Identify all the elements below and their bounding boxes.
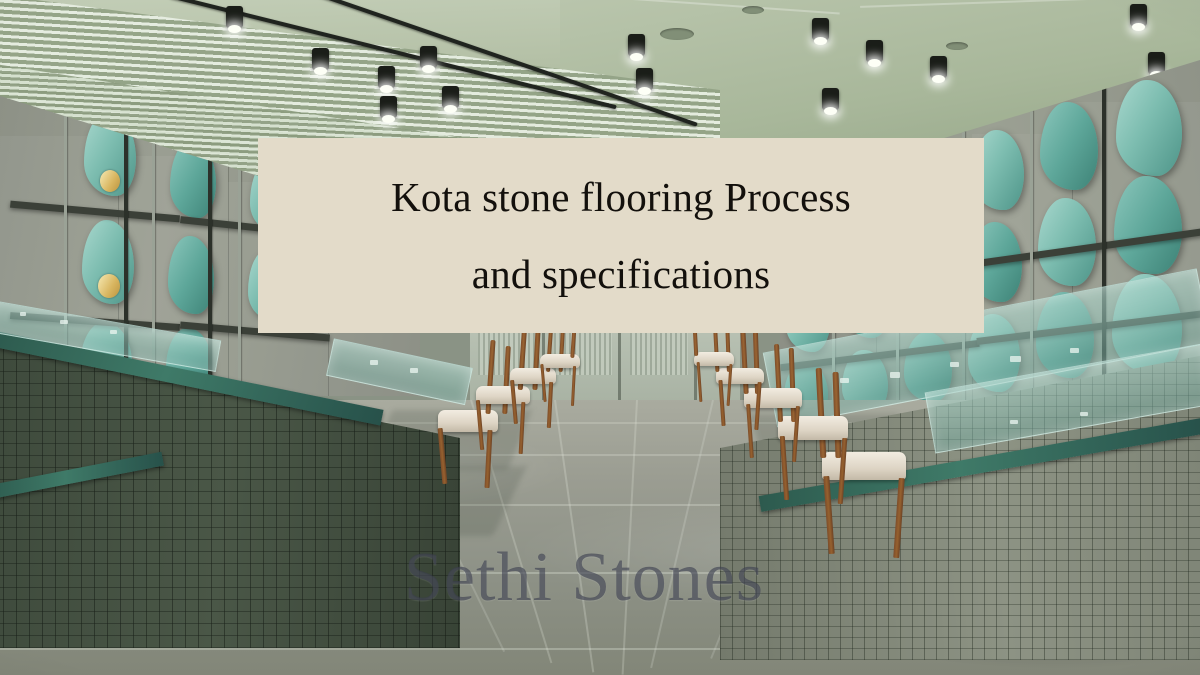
spotlight-icon: [1148, 52, 1165, 74]
jewelry-item: [1010, 420, 1018, 424]
spotlight-icon: [866, 40, 883, 62]
spotlight-icon: [226, 6, 243, 28]
spotlight-icon: [378, 66, 395, 88]
header-image: Sethi Stones Kota stone flooring Process…: [0, 0, 1200, 675]
jewelry-item: [1080, 412, 1088, 416]
title-line-2: and specifications: [472, 254, 770, 295]
wall-divider: [618, 325, 621, 410]
jewelry-item: [110, 330, 117, 334]
smoke-detector-icon: [660, 28, 694, 40]
shelf-post: [238, 138, 241, 396]
smoke-detector-icon: [742, 6, 764, 14]
title-banner: Kota stone flooring Process and specific…: [258, 138, 984, 333]
gold-necklace: [100, 170, 120, 192]
jewelry-item: [950, 362, 959, 367]
jewelry-item: [840, 378, 849, 383]
jewelry-item: [410, 368, 418, 373]
jewelry-item: [60, 320, 68, 324]
spotlight-icon: [312, 48, 329, 70]
wall-grille: [630, 329, 688, 375]
spotlight-icon: [420, 46, 437, 68]
jewelry-item: [20, 312, 26, 316]
jewelry-item: [890, 372, 900, 378]
jewelry-display-bust: [1116, 80, 1182, 176]
title-line-1: Kota stone flooring Process: [391, 177, 851, 218]
watermark-sethi-stones: Sethi Stones: [404, 538, 764, 618]
spotlight-icon: [636, 68, 653, 90]
smoke-detector-icon: [946, 42, 968, 50]
spotlight-icon: [822, 88, 839, 110]
jewelry-item: [1010, 356, 1021, 362]
gold-necklace: [98, 274, 120, 298]
spotlight-icon: [930, 56, 947, 78]
spotlight-icon: [380, 96, 397, 118]
jewelry-item: [370, 360, 378, 365]
spotlight-icon: [628, 34, 645, 56]
spotlight-icon: [442, 86, 459, 108]
jewelry-item: [1070, 348, 1079, 353]
spotlight-icon: [1130, 4, 1147, 26]
spotlight-icon: [812, 18, 829, 40]
